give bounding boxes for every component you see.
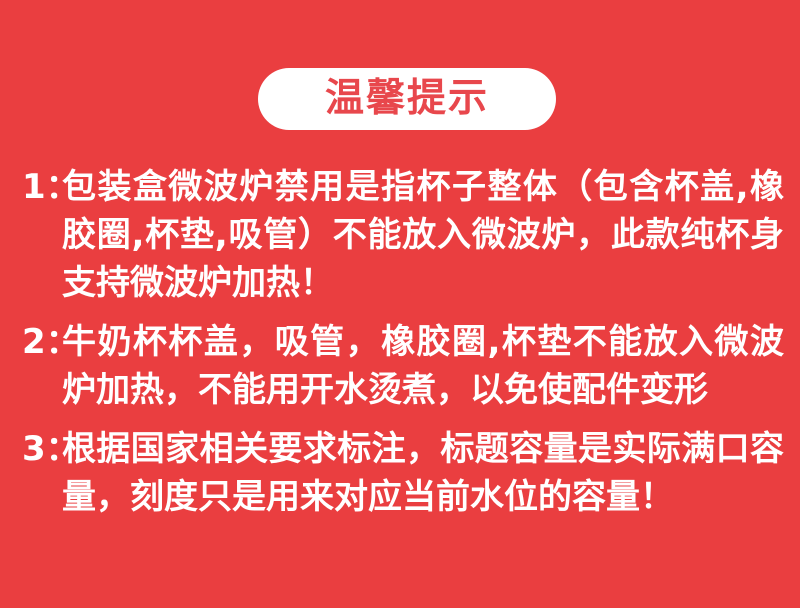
notice-list: 1： 包装盒微波炉禁用是指杯子整体（包含杯盖,橡胶圈,杯垫,吸管）不能放入微波炉… xyxy=(22,163,784,521)
notice-item-2-text: 牛奶杯杯盖，吸管，橡胶圈,杯垫不能放入微波炉加热，不能用开水烫煮，以免使配件变形 xyxy=(62,318,784,414)
notice-item-3-marker: 3： xyxy=(22,425,62,473)
title-badge: 温馨提示 xyxy=(258,68,556,130)
notice-item-1: 1： 包装盒微波炉禁用是指杯子整体（包含杯盖,橡胶圈,杯垫,吸管）不能放入微波炉… xyxy=(22,163,784,307)
notice-panel: 温馨提示 1： 包装盒微波炉禁用是指杯子整体（包含杯盖,橡胶圈,杯垫,吸管）不能… xyxy=(0,0,800,608)
notice-item-1-text: 包装盒微波炉禁用是指杯子整体（包含杯盖,橡胶圈,杯垫,吸管）不能放入微波炉，此款… xyxy=(62,163,784,307)
title-badge-label: 温馨提示 xyxy=(325,79,489,118)
notice-item-3: 3： 根据国家相关要求标注，标题容量是实际满口容量，刻度只是用来对应当前水位的容… xyxy=(22,425,784,521)
notice-item-2-marker: 2： xyxy=(22,318,62,366)
notice-item-3-text: 根据国家相关要求标注，标题容量是实际满口容量，刻度只是用来对应当前水位的容量！ xyxy=(62,425,784,521)
notice-item-2: 2： 牛奶杯杯盖，吸管，橡胶圈,杯垫不能放入微波炉加热，不能用开水烫煮，以免使配… xyxy=(22,318,784,414)
notice-item-1-marker: 1： xyxy=(22,163,62,211)
